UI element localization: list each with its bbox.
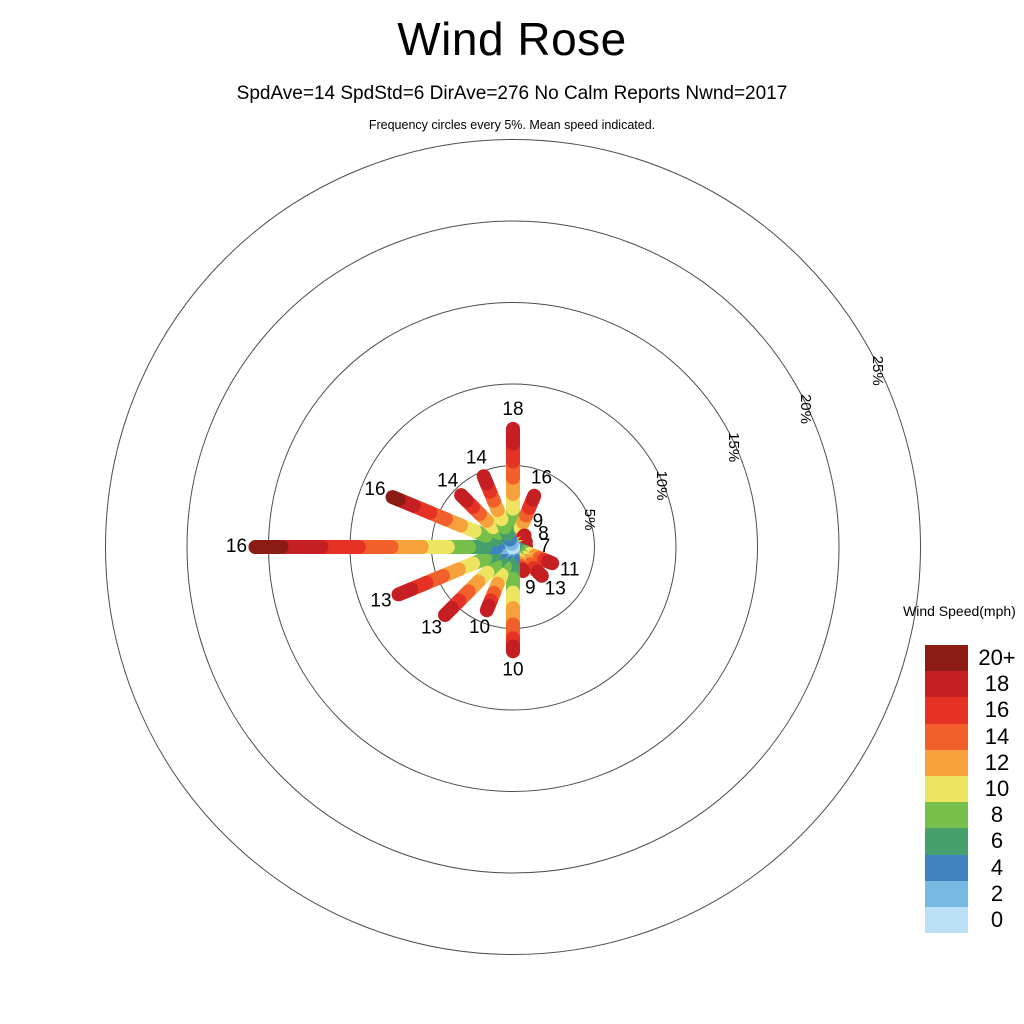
legend-swatch-6: [925, 828, 968, 854]
mean-speed-label-NW: 14: [437, 471, 459, 492]
legend-swatch-18: [925, 671, 968, 697]
legend-entry-6: 6: [925, 828, 1024, 854]
legend-entry-4: 4: [925, 855, 1024, 881]
legend-entry-16: 16: [925, 697, 1024, 723]
legend-swatch-0: [925, 907, 968, 933]
mean-speed-label-WSW: 13: [370, 591, 391, 612]
legend-swatch-16: [925, 697, 968, 723]
legend-swatch-2: [925, 881, 968, 907]
legend-swatch-8: [925, 802, 968, 828]
petal-segment-SSW-18: [487, 606, 489, 611]
legend-label-8: 8: [968, 802, 1024, 828]
petal-segment-NNE-18: [533, 496, 535, 500]
legend-label-6: 6: [968, 828, 1024, 854]
mean-speed-label-E: 7: [540, 536, 551, 557]
legend-entry-14: 14: [925, 724, 1024, 750]
legend-label-10: 10: [968, 776, 1024, 802]
legend-label-12: 12: [968, 750, 1024, 776]
legend-colorbar: 20+181614121086420: [925, 645, 1024, 933]
legend-entry-18: 18: [925, 671, 1024, 697]
mean-speed-label-SSW: 10: [469, 617, 490, 638]
mean-speed-label-WNW: 16: [364, 479, 385, 500]
legend-swatch-10: [925, 776, 968, 802]
legend-label-2: 2: [968, 881, 1024, 907]
mean-speed-label-NNW: 14: [466, 448, 488, 469]
ring-label-5: 5%: [581, 509, 598, 531]
legend-entry-10: 10: [925, 776, 1024, 802]
ring-label-10: 10%: [653, 470, 670, 500]
ring-label-25: 25%: [869, 356, 886, 386]
wind-petals: [255, 429, 552, 651]
ring-label-15: 15%: [725, 432, 742, 462]
legend-label-18: 18: [968, 671, 1024, 697]
legend-swatch-20plus: [925, 645, 968, 671]
ring-labels: 5%10%15%20%25%: [581, 356, 886, 531]
mean-speed-label-SSE: 9: [525, 578, 536, 599]
legend-entry-20plus: 20+: [925, 645, 1024, 671]
ring-label-20: 20%: [797, 394, 814, 424]
legend-swatch-14: [925, 724, 968, 750]
petal-segment-WSW-18: [399, 589, 412, 594]
legend-label-4: 4: [968, 855, 1024, 881]
legend-swatch-12: [925, 750, 968, 776]
legend-label-16: 16: [968, 697, 1024, 723]
legend-label-14: 14: [968, 724, 1024, 750]
mean-speed-label-SW: 13: [421, 617, 442, 638]
legend-label-0: 0: [968, 907, 1024, 933]
legend-title: Wind Speed(mph): [903, 603, 1016, 619]
wind-rose-plot: 5%10%15%20%25% 1816987111391010131316161…: [0, 0, 1024, 1024]
mean-speed-label-N: 18: [502, 399, 523, 420]
petal-segment-SE-18: [538, 572, 542, 576]
legend-swatch-4: [925, 855, 968, 881]
petal-segment-SW-18: [445, 608, 452, 615]
petal-segment-WNW-20+: [393, 497, 399, 499]
legend-entry-12: 12: [925, 750, 1024, 776]
mean-speed-label-S: 10: [502, 659, 523, 680]
legend-entry-8: 8: [925, 802, 1024, 828]
legend-entry-2: 2: [925, 881, 1024, 907]
mean-speed-label-SE: 13: [545, 578, 566, 599]
petal-segment-NW-18: [461, 495, 467, 501]
mean-speed-label-NNE: 16: [531, 467, 552, 488]
legend-label-20plus: 20+: [968, 645, 1024, 671]
mean-speed-label-W: 16: [226, 536, 247, 557]
petal-segment-NNW-18: [484, 476, 487, 483]
petal-segment-ESE-18: [548, 562, 552, 564]
legend-entry-0: 0: [925, 907, 1024, 933]
